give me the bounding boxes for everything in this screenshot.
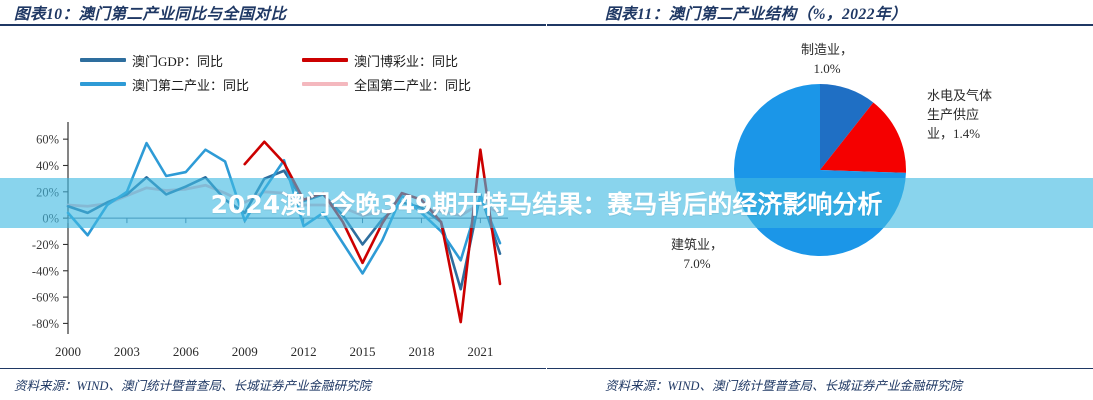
right-chart-panel: 图表11：澳门第二产业结构（%，2022年） 制造业，1.0%水电及气体生产供应… <box>547 0 1093 400</box>
legend-label-national-secondary: 全国第二产业：同比 <box>354 75 471 94</box>
pie-slice-label: 制造业， <box>801 42 853 57</box>
y-tick-label: 0% <box>42 212 59 226</box>
x-tick-label: 2021 <box>467 344 493 359</box>
legend-label-macau-secondary: 澳门第二产业：同比 <box>132 75 249 94</box>
right-figure-title: 图表11：澳门第二产业结构（%，2022年） <box>605 2 907 24</box>
left-title-divider <box>0 24 546 26</box>
legend-label-macau-gaming: 澳门博彩业：同比 <box>354 51 458 70</box>
y-tick-label: -40% <box>32 264 59 278</box>
y-tick-label: -20% <box>32 238 59 252</box>
x-tick-label: 2015 <box>350 344 376 359</box>
line-chart-svg: 60%40%20%0%-20%-40%-60%-80%2000200320062… <box>0 110 546 360</box>
pie-slice-label: 建筑业， <box>671 237 723 252</box>
right-footer-divider <box>547 368 1093 370</box>
legend-item-macau-gdp: 澳门GDP：同比 <box>80 51 302 70</box>
x-tick-label: 2003 <box>114 344 140 359</box>
legend-item-macau-gaming: 澳门博彩业：同比 <box>302 51 480 70</box>
pie-slice-label: 生产供应 <box>927 107 979 122</box>
y-tick-label: -80% <box>32 317 59 331</box>
right-title-divider <box>547 24 1093 26</box>
pie-chart: 制造业，1.0%水电及气体生产供应业，1.4%建筑业，7.0% <box>547 34 1093 364</box>
legend-label-macau-gdp: 澳门GDP：同比 <box>132 51 223 70</box>
pie-slice-label: 7.0% <box>683 256 710 271</box>
x-tick-label: 2000 <box>55 344 81 359</box>
left-footer-divider <box>0 368 546 370</box>
x-tick-label: 2006 <box>173 344 200 359</box>
y-tick-label: 40% <box>36 159 59 173</box>
legend-swatch-macau-secondary <box>80 82 126 85</box>
line-chart-legend: 澳门GDP：同比 澳门博彩业：同比 澳门第二产业：同比 全国第二产业：同比 <box>80 48 480 96</box>
pie-chart-svg: 制造业，1.0%水电及气体生产供应业，1.4%建筑业，7.0% <box>547 34 1093 364</box>
pie-slice-label: 水电及气体 <box>927 88 992 103</box>
legend-swatch-macau-gdp <box>80 58 126 61</box>
figure-page: 图表10：澳门第二产业同比与全国对比 澳门GDP：同比 澳门博彩业：同比 澳门第… <box>0 0 1093 400</box>
x-tick-label: 2012 <box>291 344 317 359</box>
y-tick-label: 60% <box>36 133 59 147</box>
legend-item-national-secondary: 全国第二产业：同比 <box>302 75 480 94</box>
right-source-note: 资料来源：WIND、澳门统计暨普查局、长城证券产业金融研究院 <box>605 375 962 394</box>
y-tick-label: -60% <box>32 291 59 305</box>
legend-swatch-national-secondary <box>302 82 348 85</box>
left-source-note: 资料来源：WIND、澳门统计暨普查局、长城证券产业金融研究院 <box>14 375 371 394</box>
pie-slice-label: 1.0% <box>813 61 840 76</box>
line-series <box>68 171 500 289</box>
left-chart-panel: 图表10：澳门第二产业同比与全国对比 澳门GDP：同比 澳门博彩业：同比 澳门第… <box>0 0 546 400</box>
legend-swatch-macau-gaming <box>302 58 348 61</box>
left-figure-title: 图表10：澳门第二产业同比与全国对比 <box>14 2 287 24</box>
line-chart: 60%40%20%0%-20%-40%-60%-80%2000200320062… <box>0 110 546 360</box>
x-tick-label: 2018 <box>408 344 434 359</box>
legend-item-macau-secondary: 澳门第二产业：同比 <box>80 75 302 94</box>
y-tick-label: 20% <box>36 185 59 199</box>
x-tick-label: 2009 <box>232 344 258 359</box>
pie-slice-label: 业，1.4% <box>927 126 980 141</box>
